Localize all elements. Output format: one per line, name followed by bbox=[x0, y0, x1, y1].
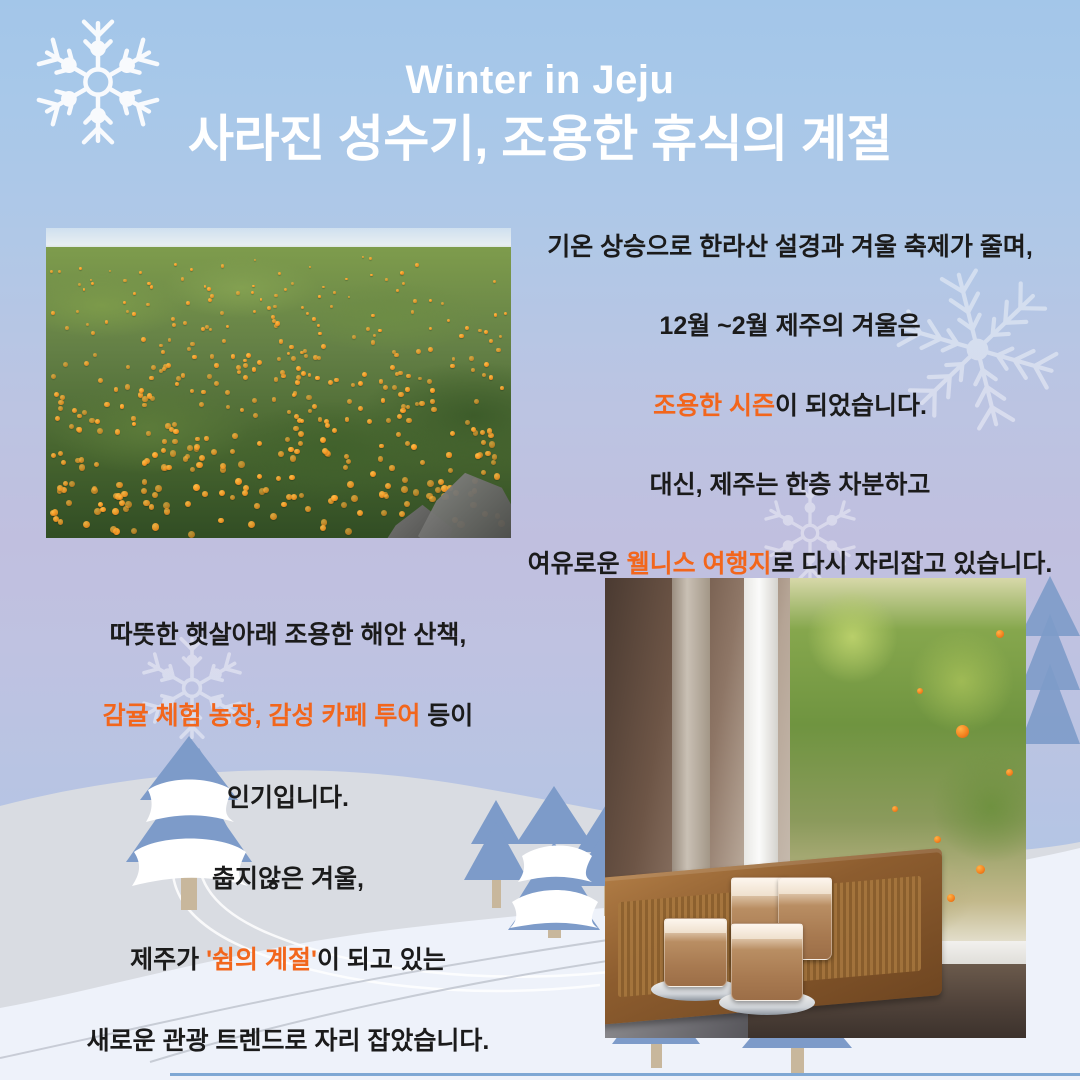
text-line: 인기입니다. bbox=[8, 783, 568, 814]
text-line: 12월 ~2월 제주의 겨울은 bbox=[505, 311, 1075, 342]
text-line: 여유로운 웰니스 여행지로 다시 자리잡고 있습니다. bbox=[505, 549, 1075, 580]
plain-text: 따뜻한 햇살아래 조용한 해안 산책, bbox=[110, 621, 467, 649]
text-line: 새로운 관광 트렌드로 자리 잡았습니다. bbox=[8, 1026, 568, 1057]
plain-text: 새로운 관광 트렌드로 자리 잡았습니다. bbox=[87, 1027, 490, 1055]
poster-header: Winter in Jeju 사라진 성수기, 조용한 휴식의 계절 bbox=[0, 58, 1080, 171]
plain-text: 기온 상승으로 한라산 설경과 겨울 축제가 줄며, bbox=[547, 233, 1033, 261]
plain-text: 춥지않은 겨울, bbox=[212, 865, 364, 893]
highlight-text: 감귤 체험 농장, 감성 카페 투어 bbox=[103, 702, 421, 730]
plain-text: 제주가 bbox=[130, 946, 206, 974]
highlight-text: 조용한 시즌 bbox=[653, 392, 775, 420]
text-line: 따뜻한 햇살아래 조용한 해안 산책, bbox=[8, 620, 568, 651]
title-korean: 사라진 성수기, 조용한 휴식의 계절 bbox=[0, 108, 1080, 171]
text-line: 감귤 체험 농장, 감성 카페 투어 등이 bbox=[8, 701, 568, 732]
title-english: Winter in Jeju bbox=[0, 58, 1080, 102]
highlight-text: '쉼의 계절' bbox=[206, 946, 317, 974]
poster-canvas: Winter in Jeju 사라진 성수기, 조용한 휴식의 계절 bbox=[0, 0, 1080, 1080]
text-line: 제주가 '쉼의 계절'이 되고 있는 bbox=[8, 945, 568, 976]
orchard-tangerines bbox=[46, 228, 511, 538]
tangerine-orchard-photo bbox=[46, 228, 511, 538]
latte-glass-front bbox=[731, 923, 803, 1001]
text-block-right: 기온 상승으로 한라산 설경과 겨울 축제가 줄며, 12월 ~2월 제주의 겨… bbox=[505, 232, 1075, 628]
text-line: 조용한 시즌이 되었습니다. bbox=[505, 391, 1075, 422]
text-line: 대신, 제주는 한층 차분하고 bbox=[505, 470, 1075, 501]
text-block-left: 따뜻한 햇살아래 조용한 해안 산책, 감귤 체험 농장, 감성 카페 투어 등… bbox=[8, 620, 568, 1080]
plain-text: 여유로운 bbox=[528, 550, 627, 578]
plain-text: 대신, 제주는 한층 차분하고 bbox=[650, 471, 931, 499]
plain-text: 인기입니다. bbox=[227, 784, 349, 812]
latte-glass-left bbox=[664, 918, 727, 987]
plain-text: 등이 bbox=[420, 702, 473, 730]
bottom-divider bbox=[170, 1073, 1080, 1076]
plain-text: 이 되고 있는 bbox=[317, 946, 446, 974]
plain-text: 12월 ~2월 제주의 겨울은 bbox=[659, 312, 920, 340]
plain-text: 로 다시 자리잡고 있습니다. bbox=[772, 550, 1053, 578]
text-line: 춥지않은 겨울, bbox=[8, 864, 568, 895]
highlight-text: 웰니스 여행지 bbox=[627, 550, 772, 578]
cafe-window-photo bbox=[605, 578, 1026, 1038]
text-line: 기온 상승으로 한라산 설경과 겨울 축제가 줄며, bbox=[505, 232, 1075, 263]
plain-text: 이 되었습니다. bbox=[775, 392, 927, 420]
